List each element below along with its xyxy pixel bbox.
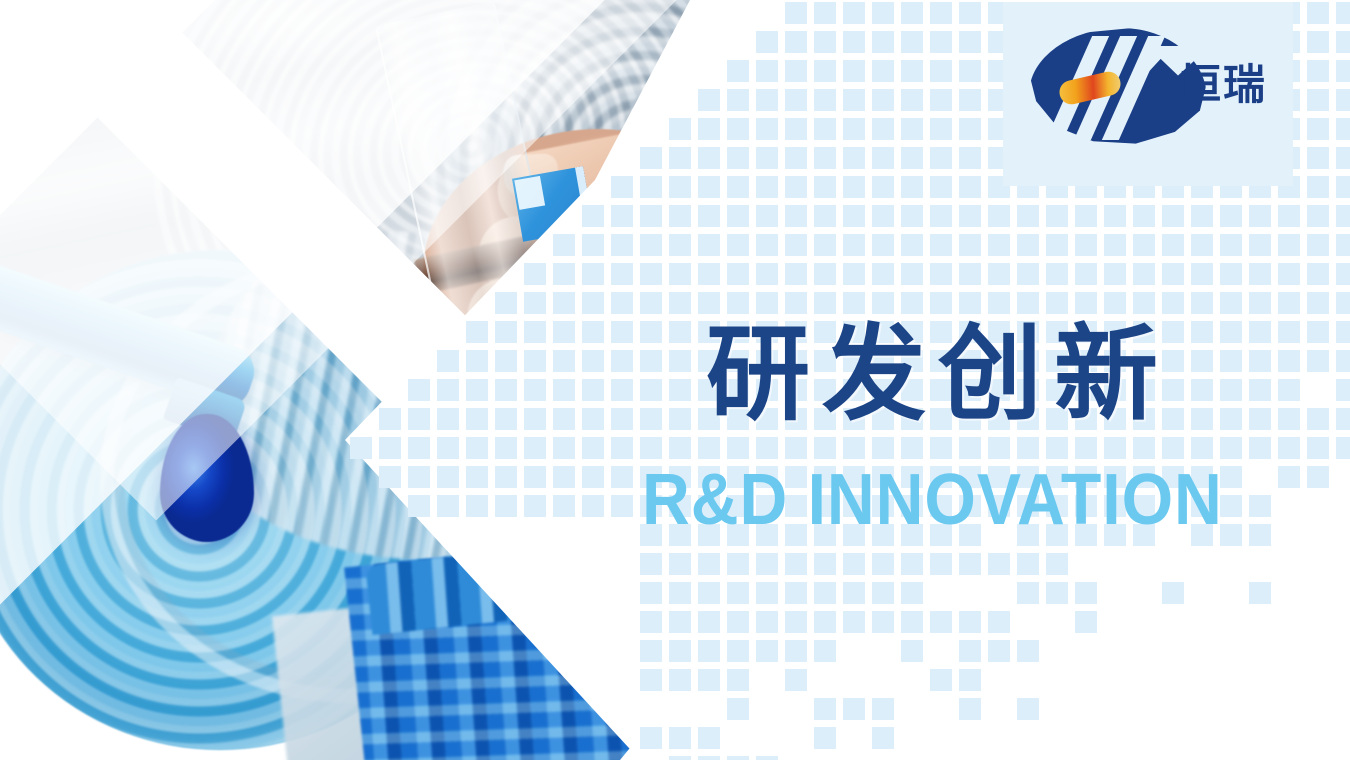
rd-innovation-banner: 研发创新 R&D INNOVATION 恒瑞 xyxy=(0,0,1350,760)
brand-logo-panel[interactable]: 恒瑞 xyxy=(1003,2,1293,186)
page-subtitle-en: R&D INNOVATION xyxy=(642,464,1223,536)
page-title-cn: 研发创新 xyxy=(706,322,1170,426)
brand-name-cn: 恒瑞 xyxy=(1179,64,1267,106)
